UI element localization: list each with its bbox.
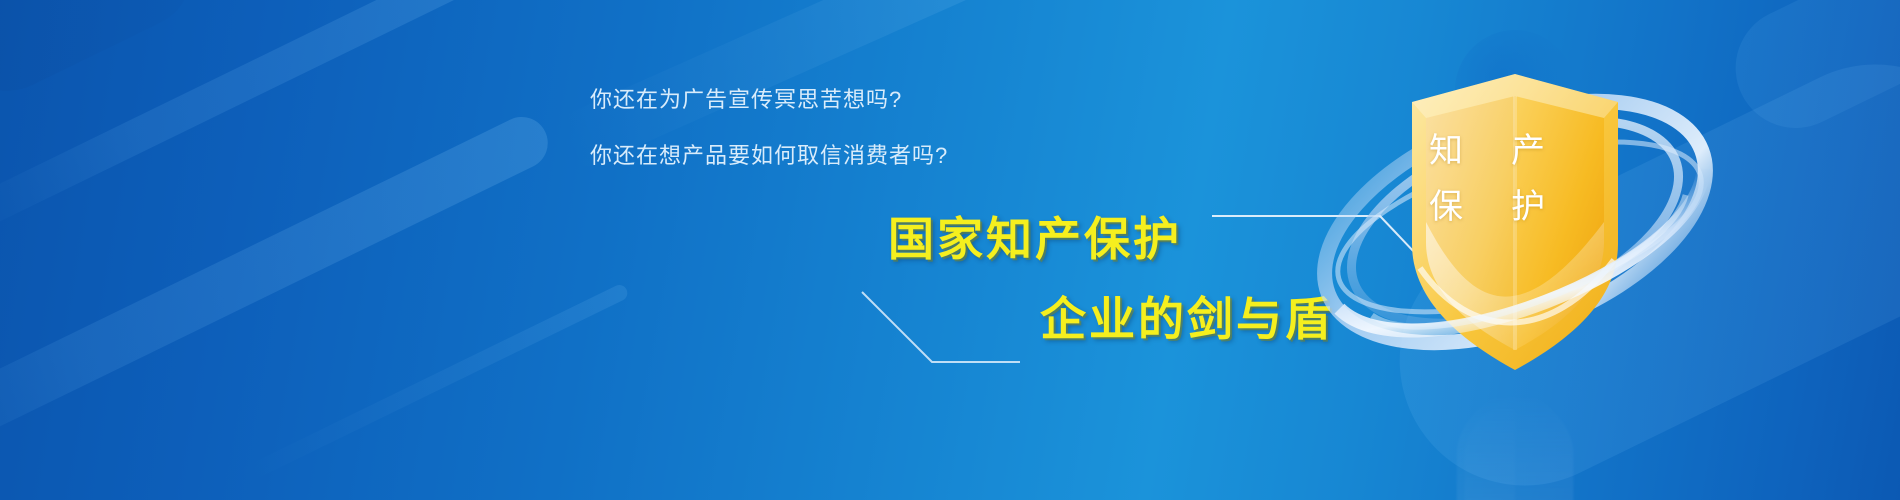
subheading-line-1: 你还在为广告宣传冥思苦想吗? — [590, 73, 948, 127]
background-streak-2 — [0, 108, 557, 479]
connector-line-bottom — [862, 292, 1020, 362]
background-streak-3 — [236, 282, 629, 485]
orbital-rings-front — [1300, 52, 1730, 392]
headline-line-2: 企业的剑与盾 — [1040, 283, 1334, 349]
background-corner-capsule — [0, 0, 213, 111]
subheading-line-2: 你还在想产品要如何取信消费者吗? — [590, 129, 948, 183]
subheading-group: 你还在为广告宣传冥思苦想吗? 你还在想产品要如何取信消费者吗? — [590, 73, 948, 183]
promo-banner: 你还在为广告宣传冥思苦想吗? 你还在想产品要如何取信消费者吗? 国家知产保护 企… — [0, 0, 1900, 500]
headline-line-1: 国家知产保护 — [888, 203, 1182, 269]
shield-emblem: 知 产 保 护 — [1352, 62, 1682, 462]
shield-reflection — [1400, 382, 1630, 500]
